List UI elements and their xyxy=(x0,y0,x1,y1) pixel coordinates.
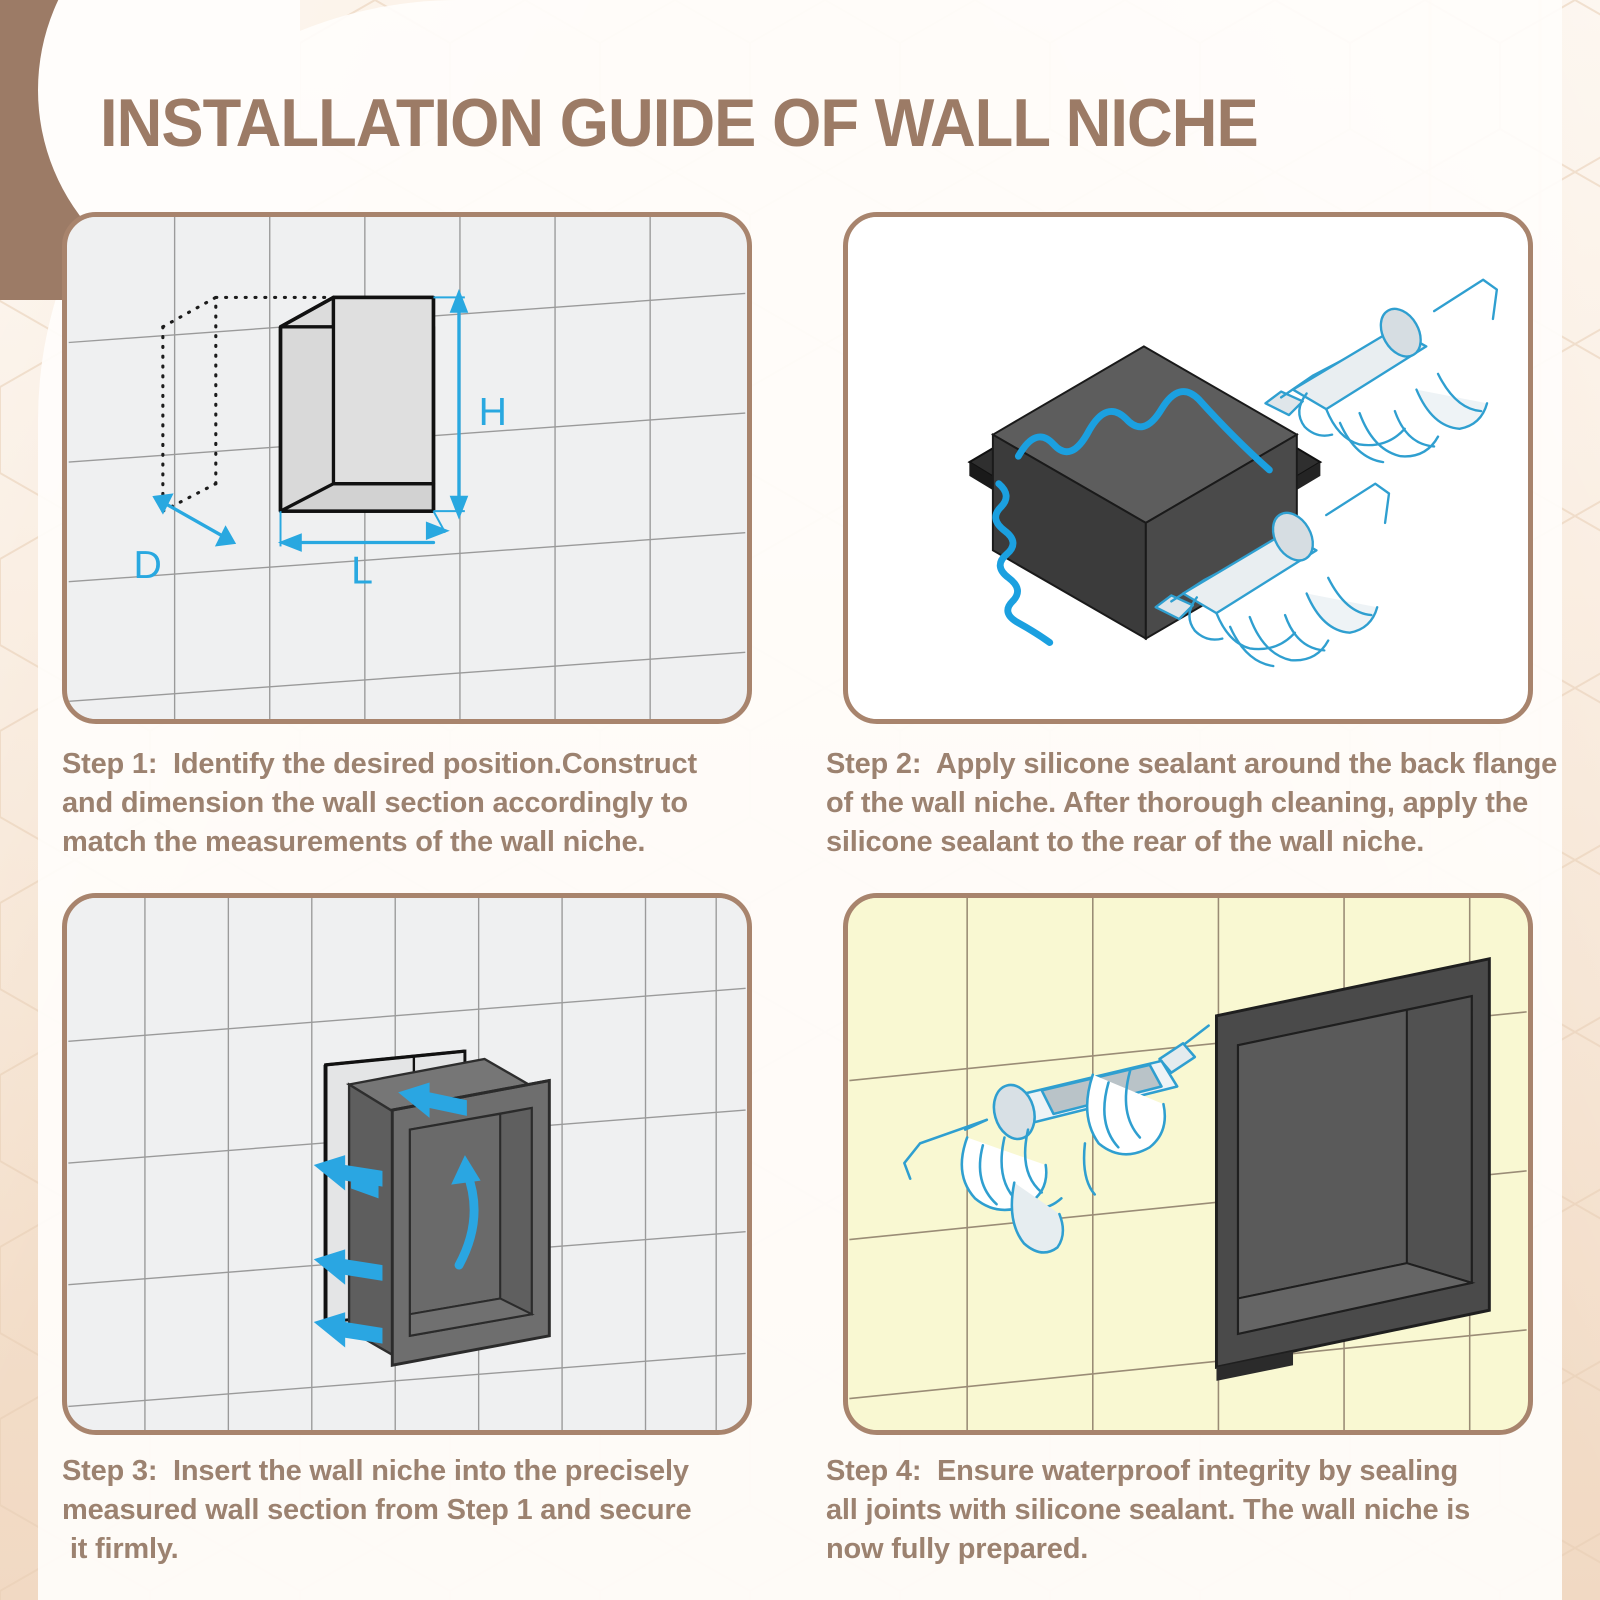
step-3-diagram xyxy=(67,898,747,1430)
length-label: L xyxy=(351,550,373,593)
step-4-caption: Step 4: Ensure waterproof integrity by s… xyxy=(826,1452,1552,1569)
step-2-caption: Step 2: Apply silicone sealant around th… xyxy=(826,745,1552,862)
caption-line: now fully prepared. xyxy=(826,1530,1552,1569)
step-3-panel xyxy=(62,893,752,1435)
caption-line: Step 1: Identify the desired position.Co… xyxy=(62,745,762,784)
caption-line: all joints with silicone sealant. The wa… xyxy=(826,1491,1552,1530)
step-4-diagram xyxy=(848,898,1528,1430)
caption-line: and dimension the wall section according… xyxy=(62,784,762,823)
depth-label: D xyxy=(133,544,161,587)
step-2-panel xyxy=(843,212,1533,724)
step-1-caption: Step 1: Identify the desired position.Co… xyxy=(62,745,762,862)
step-2-diagram xyxy=(848,217,1528,719)
step-1-diagram: H L D xyxy=(67,217,747,719)
page-title: INSTALLATION GUIDE OF WALL NICHE xyxy=(100,86,1421,160)
caption-line: it firmly. xyxy=(62,1530,762,1569)
caption-line: of the wall niche. After thorough cleani… xyxy=(826,784,1552,823)
niche-recess xyxy=(281,297,434,511)
height-label: H xyxy=(479,391,507,434)
caption-line: silicone sealant to the rear of the wall… xyxy=(826,823,1552,862)
step-3-caption: Step 3: Insert the wall niche into the p… xyxy=(62,1452,762,1569)
caption-line: Step 2: Apply silicone sealant around th… xyxy=(826,745,1552,784)
caption-line: Step 4: Ensure waterproof integrity by s… xyxy=(826,1452,1552,1491)
caption-line: Step 3: Insert the wall niche into the p… xyxy=(62,1452,762,1491)
installed-niche xyxy=(1216,959,1489,1381)
step-4-panel xyxy=(843,893,1533,1435)
step-1-panel: H L D xyxy=(62,212,752,724)
caption-line: measured wall section from Step 1 and se… xyxy=(62,1491,762,1530)
caption-line: match the measurements of the wall niche… xyxy=(62,823,762,862)
